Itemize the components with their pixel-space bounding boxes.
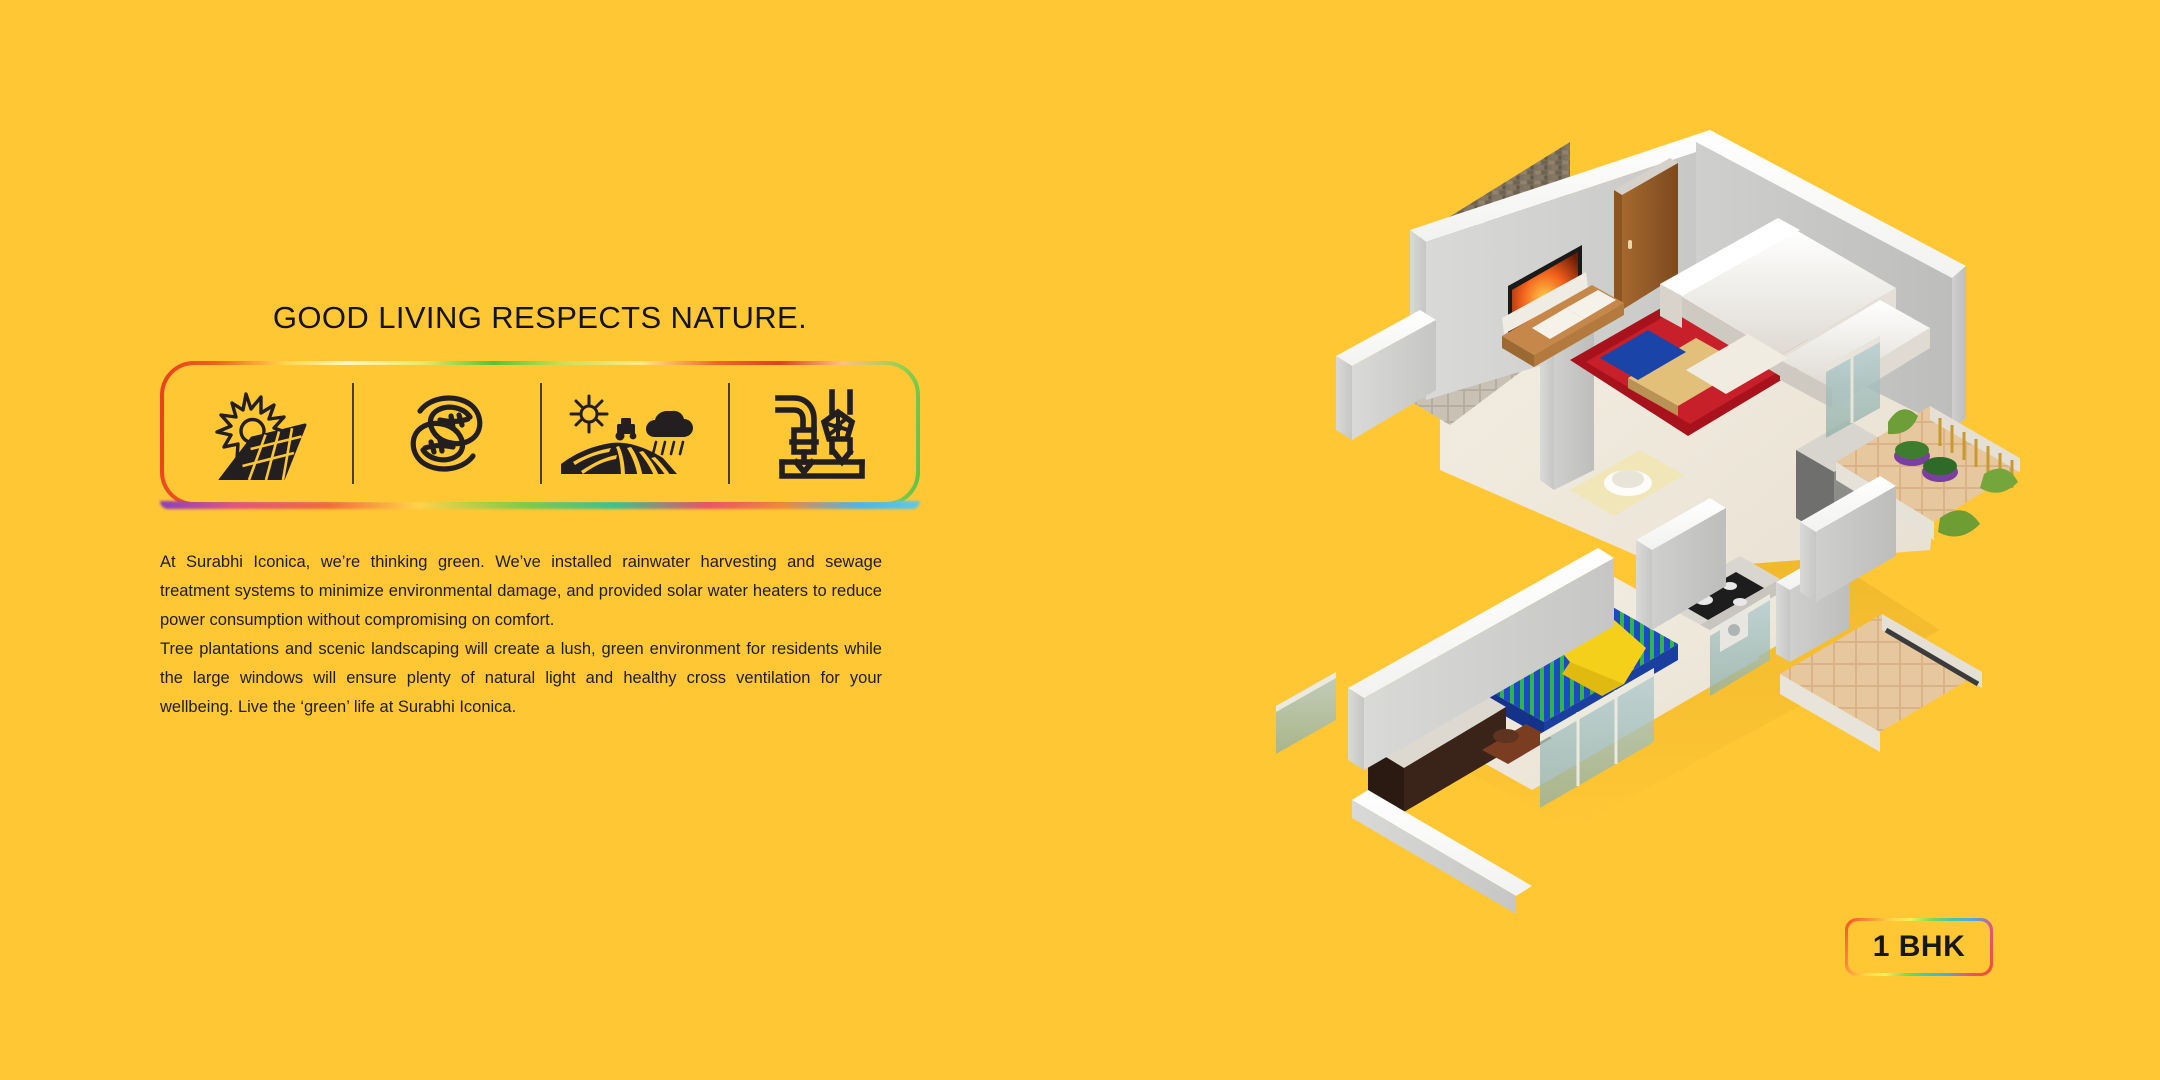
- paragraph-1: At Surabhi Iconica, we’re thinking green…: [160, 548, 882, 635]
- feature-solar-water-heating[interactable]: [164, 365, 352, 502]
- two-leaves-eco-icon: [399, 386, 494, 481]
- feature-sewage-treatment[interactable]: [728, 365, 916, 502]
- page-title: GOOD LIVING RESPECTS NATURE.: [160, 300, 920, 336]
- paragraph-2: Tree plantations and scenic landscaping …: [160, 635, 882, 722]
- eco-features-inner: [164, 365, 916, 502]
- bhk-badge[interactable]: 1 BHK: [1845, 918, 1993, 976]
- farmland-tractor-rain-icon: [559, 386, 709, 481]
- pipes-valve-icon: [772, 386, 872, 482]
- bhk-badge-inner: 1 BHK: [1848, 921, 1990, 973]
- left-content-column: GOOD LIVING RESPECTS NATURE.: [160, 300, 920, 722]
- body-copy: At Surabhi Iconica, we’re thinking green…: [160, 548, 882, 722]
- feature-tree-plantation-landscaping[interactable]: [540, 365, 728, 502]
- solar-panel-sun-icon: [204, 388, 312, 480]
- eco-features-card: [160, 361, 920, 506]
- floorplan-image: [1240, 70, 2020, 930]
- bhk-badge-label: 1 BHK: [1873, 930, 1966, 964]
- feature-green-environment[interactable]: [352, 365, 540, 502]
